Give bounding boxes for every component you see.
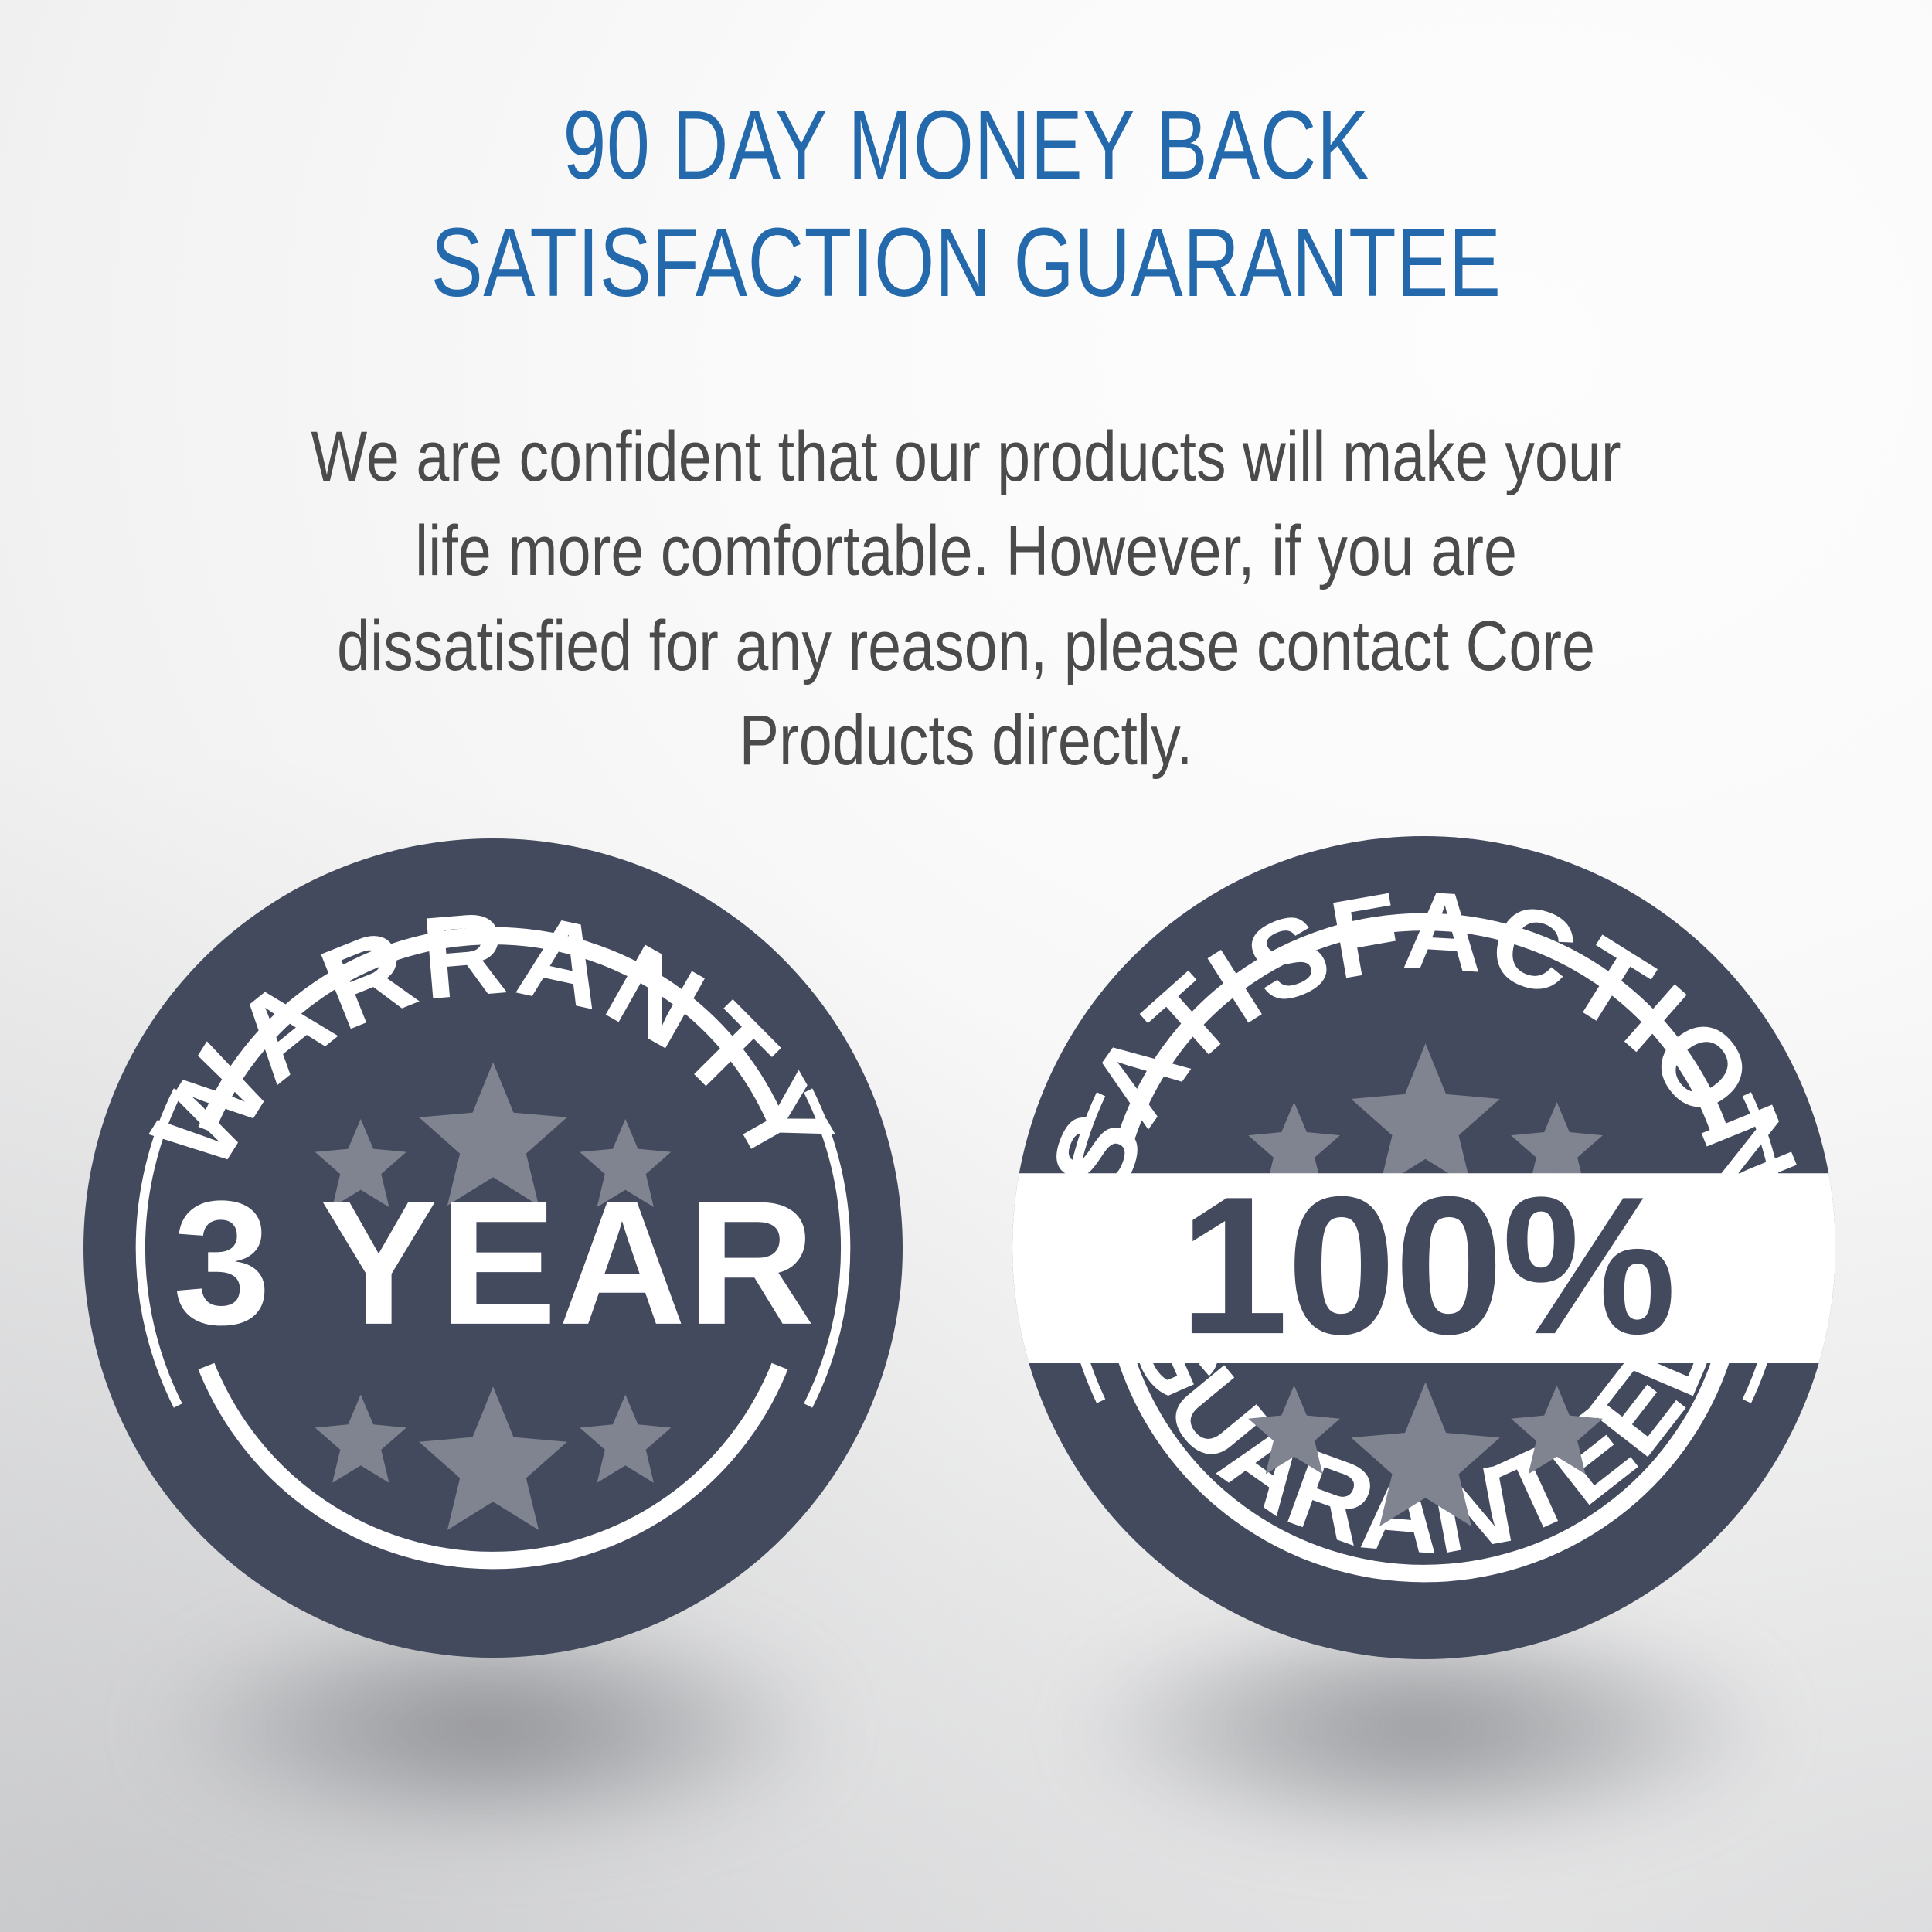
- body-copy: We are confident that our products will …: [268, 410, 1664, 787]
- page-title-line-2: SATISFACTION GUARANTEE: [193, 204, 1739, 321]
- guarantee-graphic: 90 DAY MONEY BACK SATISFACTION GUARANTEE…: [0, 0, 1932, 1932]
- warranty-center-text: 3 YEAR: [173, 1165, 817, 1362]
- page-title: 90 DAY MONEY BACK SATISFACTION GUARANTEE: [193, 87, 1739, 322]
- page-title-line-1: 90 DAY MONEY BACK: [193, 87, 1739, 204]
- guarantee-center-text: 100%: [1179, 1155, 1675, 1375]
- warranty-badge[interactable]: WARRANTY 3 YEAR: [83, 838, 903, 1658]
- satisfaction-guarantee-badge[interactable]: SATISFACTION GUARANTEED: [1012, 836, 1835, 1659]
- warranty-badge-graphic: WARRANTY 3 YEAR: [83, 838, 903, 1658]
- guarantee-badge-graphic: SATISFACTION GUARANTEED: [1012, 836, 1835, 1659]
